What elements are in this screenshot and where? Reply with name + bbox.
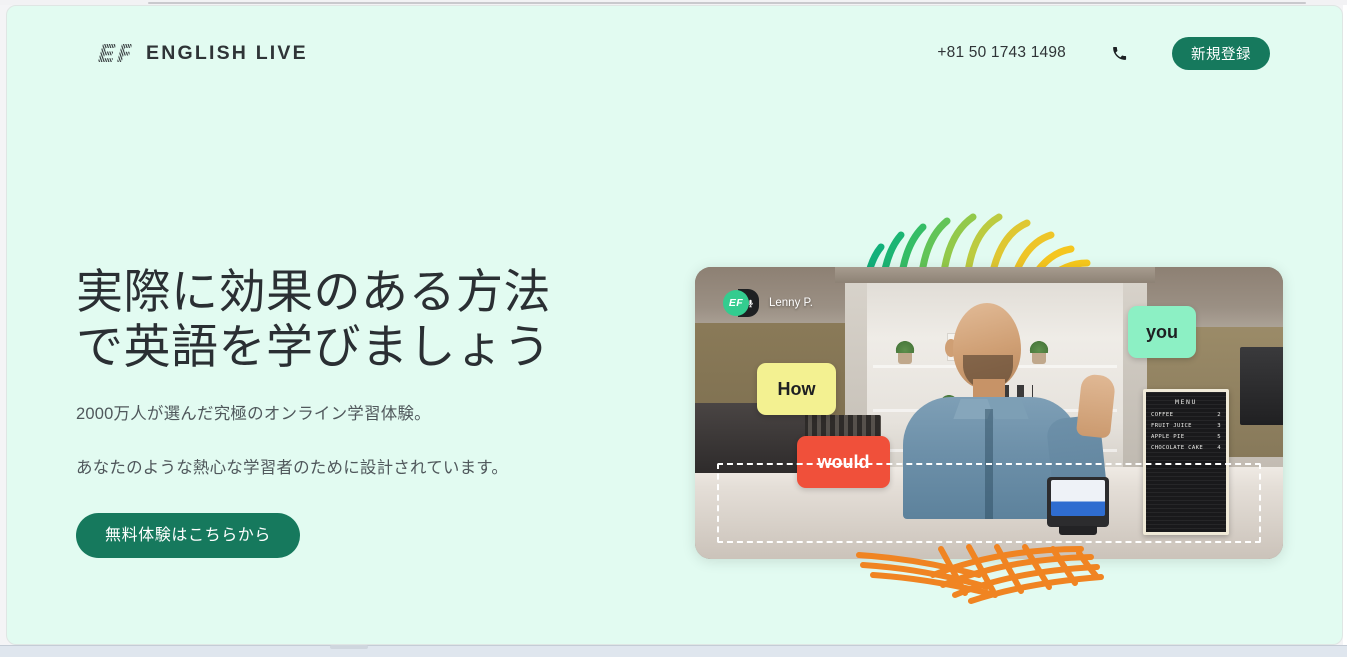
menu-board-row: APPLE PIE 5	[1151, 434, 1221, 440]
word-chip-how[interactable]: How	[757, 363, 836, 415]
page-title: 実際に効果のある方法 で英語を学びましょう	[76, 264, 676, 374]
menu-board-title: MENU	[1151, 398, 1221, 406]
browser-scrollbar-track[interactable]	[148, 2, 1306, 4]
menu-item-price: 4	[1217, 445, 1221, 451]
phone-icon[interactable]	[1108, 42, 1130, 64]
hero-subtitle-1: 2000万人が選んだ究極のオンライン学習体験。	[76, 400, 676, 424]
menu-item-name: COFFEE	[1151, 412, 1173, 418]
menu-item-price: 3	[1217, 423, 1221, 429]
menu-item-price: 5	[1217, 434, 1221, 440]
menu-board-row: FRUIT JUICE 3	[1151, 423, 1221, 429]
ef-logo-icon	[96, 41, 132, 66]
participant-name: Lenny P.	[769, 297, 813, 309]
video-player-card[interactable]: MENU COFFEE 2 FRUIT JUICE 3 APPLE PIE 5	[695, 267, 1283, 559]
menu-item-price: 2	[1217, 412, 1221, 418]
hero-text-column: 実際に効果のある方法 で英語を学びましょう 2000万人が選んだ究極のオンライン…	[76, 264, 676, 558]
menu-item-name: APPLE PIE	[1151, 434, 1184, 440]
brand-name: ENGLISH LIVE	[146, 42, 308, 65]
brand-logo-link[interactable]: ENGLISH LIVE	[96, 41, 308, 66]
site-header: ENGLISH LIVE +81 50 1743 1498 新規登録	[7, 6, 1342, 100]
phone-number[interactable]: +81 50 1743 1498	[937, 44, 1066, 62]
free-trial-cta-button[interactable]: 無料体験はこちらから	[76, 513, 300, 558]
signup-button[interactable]: 新規登録	[1172, 37, 1270, 70]
header-actions: +81 50 1743 1498 新規登録	[937, 37, 1270, 70]
right-edge-strip	[1343, 5, 1347, 645]
taskbar	[0, 645, 1347, 657]
menu-board-row: CHOCOLATE CAKE 4	[1151, 445, 1221, 451]
menu-item-name: CHOCOLATE CAKE	[1151, 445, 1203, 451]
video-participant-chip: EF Lenny P.	[723, 289, 813, 317]
hero-subtitle-2: あなたのような熱心な学習者のために設計されています。	[76, 454, 676, 478]
word-chip-would[interactable]: would	[797, 436, 890, 488]
tablet-prop	[1047, 477, 1109, 527]
word-chip-you[interactable]: you	[1128, 306, 1196, 358]
participant-avatar: EF	[723, 290, 749, 316]
hero-media-column: MENU COFFEE 2 FRUIT JUICE 3 APPLE PIE 5	[689, 201, 1289, 601]
taskbar-handle[interactable]	[330, 645, 368, 649]
page-hero-panel: ENGLISH LIVE +81 50 1743 1498 新規登録 実際に効果…	[6, 5, 1343, 645]
menu-board: MENU COFFEE 2 FRUIT JUICE 3 APPLE PIE 5	[1143, 389, 1229, 535]
menu-item-name: FRUIT JUICE	[1151, 423, 1192, 429]
menu-board-row: COFFEE 2	[1151, 412, 1221, 418]
screen: ENGLISH LIVE +81 50 1743 1498 新規登録 実際に効果…	[0, 0, 1347, 657]
phone-icon-glyph	[1111, 45, 1128, 62]
